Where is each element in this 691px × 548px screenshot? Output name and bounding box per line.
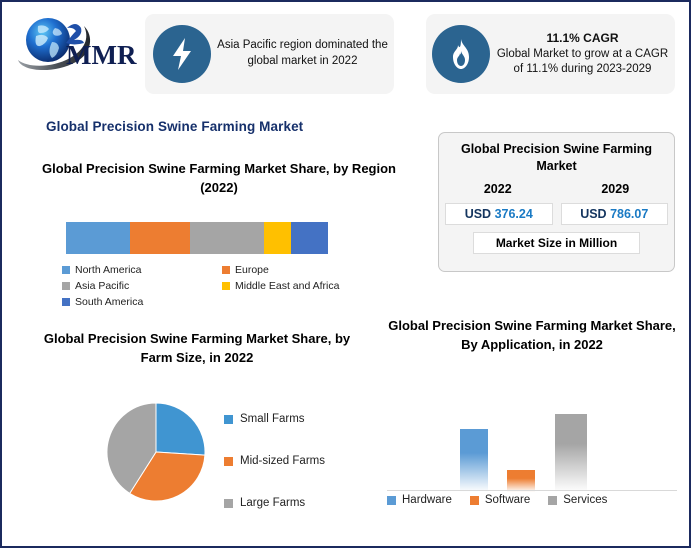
application-bars bbox=[382, 397, 682, 492]
legend-swatch-icon bbox=[62, 298, 70, 306]
market-size-amount: 786.07 bbox=[610, 207, 648, 221]
globe-swoosh-logo: MMR bbox=[14, 12, 144, 74]
region-legend-label: Middle East and Africa bbox=[235, 280, 339, 292]
region-legend-item: Middle East and Africa bbox=[222, 280, 382, 292]
header-card-region-text: Asia Pacific region dominated the global… bbox=[211, 38, 394, 69]
pie-slices bbox=[107, 403, 205, 501]
application-legend-item: Hardware bbox=[387, 494, 452, 506]
region-segment-south-america bbox=[291, 222, 328, 254]
header-card-cagr-text: 11.1% CAGR Global Market to grow at a CA… bbox=[490, 30, 675, 77]
cagr-body: Global Market to grow at a CAGR of 11.1%… bbox=[497, 48, 668, 76]
farm-size-chart-block: Global Precision Swine Farming Market Sh… bbox=[32, 330, 362, 368]
region-segment-north-america bbox=[66, 222, 130, 254]
market-size-box: Global Precision Swine Farming Market 20… bbox=[438, 132, 675, 272]
region-legend-item: North America bbox=[62, 264, 222, 276]
application-legend-label: Services bbox=[563, 494, 607, 506]
market-size-years: 2022 2029 bbox=[439, 182, 674, 196]
legend-swatch-icon bbox=[222, 282, 230, 290]
legend-swatch-icon bbox=[224, 415, 233, 424]
application-legend: Hardware Software Services bbox=[387, 494, 683, 506]
application-axis-line bbox=[387, 490, 677, 491]
market-size-year-base: 2022 bbox=[439, 182, 557, 196]
currency-label: USD bbox=[465, 207, 491, 221]
legend-swatch-icon bbox=[387, 496, 396, 505]
farm-size-chart-title: Global Precision Swine Farming Market Sh… bbox=[32, 330, 362, 368]
header-card-cagr: 11.1% CAGR Global Market to grow at a CA… bbox=[426, 14, 675, 94]
market-size-year-forecast: 2029 bbox=[557, 182, 675, 196]
market-size-amount: 376.24 bbox=[495, 207, 533, 221]
legend-swatch-icon bbox=[224, 499, 233, 508]
farm-size-legend: Small Farms Mid-sized Farms Large Farms bbox=[224, 398, 325, 524]
application-legend-item: Services bbox=[548, 494, 607, 506]
application-legend-item: Software bbox=[470, 494, 530, 506]
svg-text:MMR: MMR bbox=[66, 40, 137, 70]
region-stacked-bar bbox=[66, 222, 328, 254]
legend-swatch-icon bbox=[62, 266, 70, 274]
legend-swatch-icon bbox=[222, 266, 230, 274]
page-title: Global Precision Swine Farming Market bbox=[46, 119, 303, 134]
farm-size-pie bbox=[106, 402, 206, 502]
market-size-value-2022: USD 376.24 bbox=[445, 203, 553, 225]
market-size-value-2029: USD 786.07 bbox=[561, 203, 669, 225]
application-bar-software bbox=[507, 470, 535, 492]
farm-size-legend-item: Small Farms bbox=[224, 398, 325, 440]
farm-size-legend-label: Mid-sized Farms bbox=[240, 455, 325, 467]
region-segment-europe bbox=[130, 222, 190, 254]
application-chart-block: Global Precision Swine Farming Market Sh… bbox=[382, 317, 682, 355]
region-legend: North America Europe Asia Pacific Middle… bbox=[62, 264, 382, 312]
farm-size-legend-item: Large Farms bbox=[224, 482, 325, 524]
application-bar-hardware bbox=[460, 429, 488, 492]
region-legend-item: South America bbox=[62, 296, 222, 308]
region-legend-label: Europe bbox=[235, 264, 269, 276]
cagr-headline: 11.1% CAGR bbox=[496, 30, 669, 46]
market-size-unit-label: Market Size in Million bbox=[473, 232, 640, 254]
header-card-region: Asia Pacific region dominated the global… bbox=[145, 14, 394, 94]
region-segment-middle-east-africa bbox=[264, 222, 291, 254]
region-legend-item: Asia Pacific bbox=[62, 280, 222, 292]
application-bar-services bbox=[555, 414, 587, 492]
region-legend-label: South America bbox=[75, 296, 143, 308]
legend-swatch-icon bbox=[548, 496, 557, 505]
infographic-canvas: MMR Asia Pacific region dominated the gl… bbox=[0, 0, 691, 548]
application-legend-label: Software bbox=[485, 494, 530, 506]
legend-swatch-icon bbox=[224, 457, 233, 466]
currency-label: USD bbox=[580, 207, 606, 221]
pie-slice-small-farms bbox=[156, 403, 205, 455]
mmr-logo: MMR bbox=[14, 12, 144, 74]
farm-size-legend-label: Small Farms bbox=[240, 413, 305, 425]
region-legend-label: Asia Pacific bbox=[75, 280, 129, 292]
application-chart-title: Global Precision Swine Farming Market Sh… bbox=[382, 317, 682, 355]
legend-swatch-icon bbox=[470, 496, 479, 505]
market-size-values: USD 376.24 USD 786.07 bbox=[439, 203, 674, 225]
region-segment-asia-pacific bbox=[190, 222, 264, 254]
farm-size-legend-label: Large Farms bbox=[240, 497, 305, 509]
region-chart-title: Global Precision Swine Farming Market Sh… bbox=[24, 160, 414, 198]
market-size-title: Global Precision Swine Farming Market bbox=[439, 133, 674, 175]
lightning-bolt-icon bbox=[153, 25, 211, 83]
application-legend-label: Hardware bbox=[402, 494, 452, 506]
region-chart-block: Global Precision Swine Farming Market Sh… bbox=[24, 160, 414, 198]
legend-swatch-icon bbox=[62, 282, 70, 290]
region-legend-item: Europe bbox=[222, 264, 382, 276]
region-legend-label: North America bbox=[75, 264, 142, 276]
flame-icon bbox=[432, 25, 490, 83]
farm-size-legend-item: Mid-sized Farms bbox=[224, 440, 325, 482]
